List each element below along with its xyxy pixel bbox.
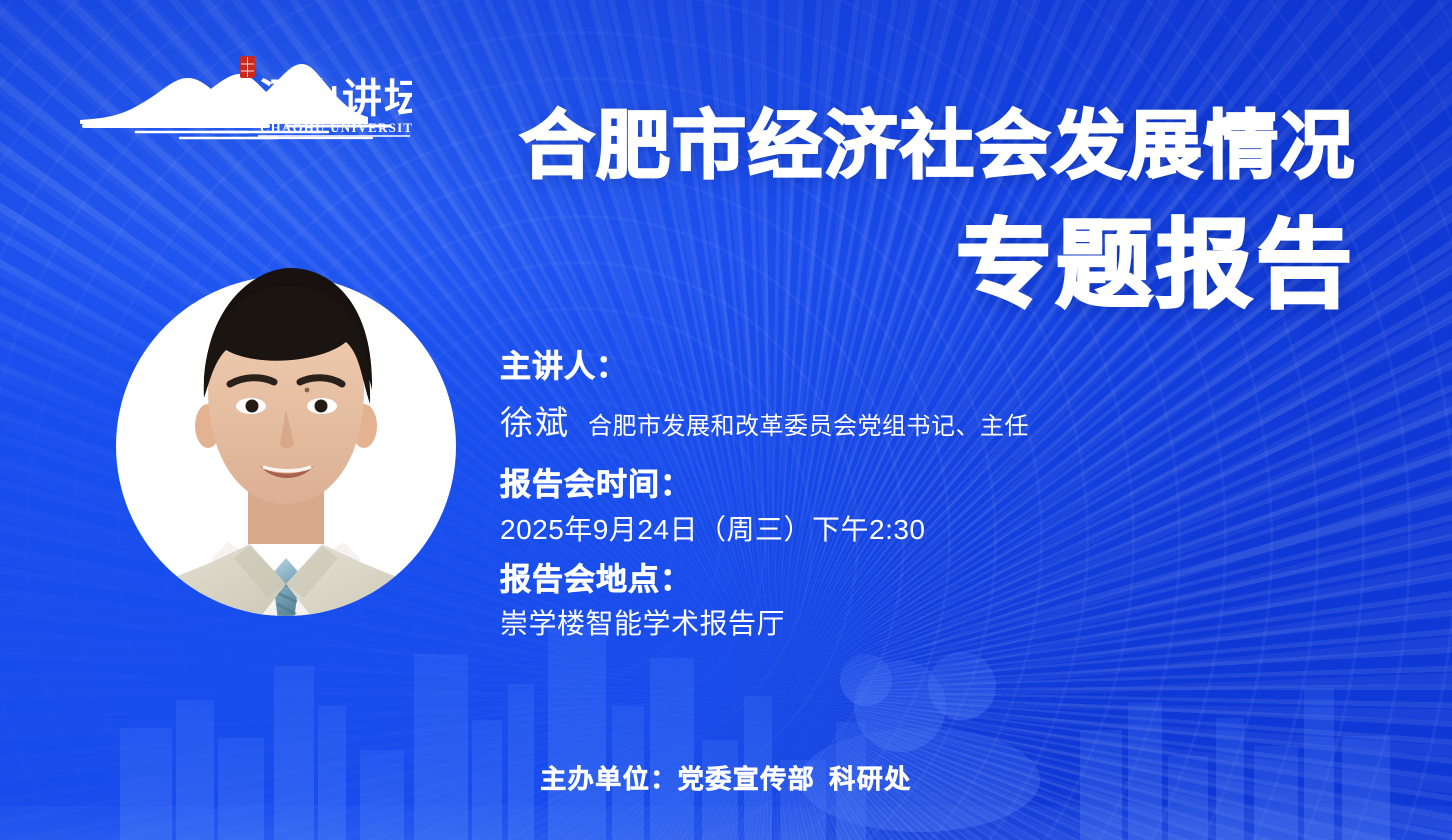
time-label: 报告会时间： (500, 466, 1029, 504)
title-line-2: 专题报告 (520, 217, 1356, 315)
speaker-row: 徐斌 合肥市发展和改革委员会党组书记、主任 (500, 396, 1029, 444)
poster-title-block: 合肥市经济社会发展情况 专题报告 (520, 108, 1356, 315)
red-seal-icon (240, 56, 255, 78)
logo-brand-text: 汤山讲坛 (258, 76, 412, 121)
organizer-label: 主办单位： (540, 764, 678, 794)
place-value: 崇学楼智能学术报告厅 (500, 606, 1029, 641)
logo-subtitle-text: CHAOHU UNIVERSITY (260, 120, 412, 135)
place-label: 报告会地点： (500, 561, 1029, 599)
organizer-name-1: 党委宣传部 (678, 764, 816, 794)
poster-canvas: 汤山讲坛 CHAOHU UNIVERSITY 合肥市经济社会发展情况 专题报告 (0, 0, 1452, 840)
chaohu-university-logo: 汤山讲坛 CHAOHU UNIVERSITY (72, 52, 412, 148)
time-value: 2025年9月24日（周三）下午2:30 (500, 512, 1029, 547)
title-line-1: 合肥市经济社会发展情况 (520, 108, 1356, 183)
organizer-footer: 主办单位：党委宣传部科研处 (0, 759, 1452, 796)
speaker-name: 徐斌 (500, 396, 570, 444)
speaker-label: 主讲人： (500, 348, 1029, 386)
event-info-block: 主讲人： 徐斌 合肥市发展和改革委员会党组书记、主任 报告会时间： 2025年9… (500, 348, 1029, 641)
organizer-name-2: 科研处 (829, 764, 912, 794)
speaker-title: 合肥市发展和改革委员会党组书记、主任 (588, 406, 1029, 441)
speaker-portrait (108, 258, 464, 616)
